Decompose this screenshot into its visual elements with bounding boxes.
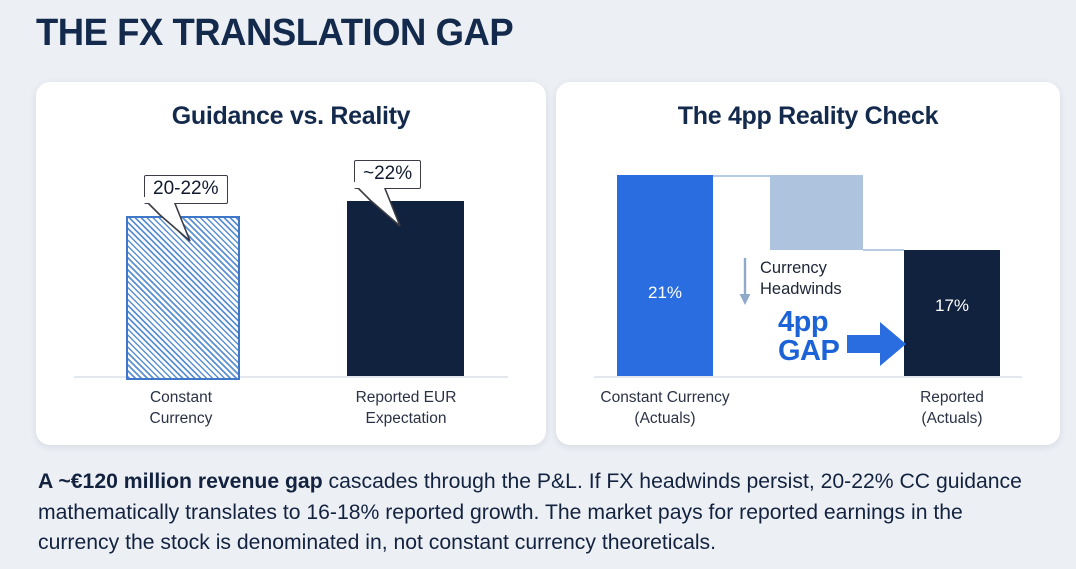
- right-category-label-constant-currency-line1: Constant Currency: [584, 388, 746, 409]
- gap-annotation-line1: 4pp: [778, 308, 839, 337]
- left-chart-plot: 20-22% ~22% Constant Currency R: [36, 82, 546, 445]
- chart-card-guidance-vs-reality: Guidance vs. Reality 20-22% ~22%: [36, 82, 546, 445]
- callout-reported-eur: ~22%: [354, 160, 421, 189]
- right-category-label-reported-line2: (Actuals): [874, 409, 1030, 430]
- left-category-label-constant-currency-line2: Currency: [101, 409, 261, 430]
- left-category-label-reported-eur-line2: Expectation: [321, 409, 491, 430]
- infographic-page: THE FX TRANSLATION GAP Guidance vs. Real…: [0, 0, 1076, 569]
- right-category-label-constant-currency: Constant Currency (Actuals): [584, 388, 746, 430]
- headwinds-note-line1: Currency: [760, 258, 842, 279]
- gap-annotation-line2: GAP: [778, 337, 839, 366]
- callout-reported-eur-text: ~22%: [363, 163, 412, 184]
- left-category-label-reported-eur: Reported EUR Expectation: [321, 388, 491, 430]
- right-chart-baseline: [594, 376, 1022, 378]
- bar-reported-eur-expectation: [347, 201, 464, 376]
- waterfall-connector-bottom: [863, 249, 904, 251]
- left-category-label-constant-currency: Constant Currency: [101, 388, 261, 430]
- bar-value-reported: 17%: [904, 296, 1000, 316]
- headwinds-note: Currency Headwinds: [760, 258, 842, 300]
- waterfall-connector-top: [713, 175, 770, 177]
- bar-constant-currency-guidance: [126, 216, 240, 380]
- right-category-label-constant-currency-line2: (Actuals): [584, 409, 746, 430]
- down-arrow-icon: [738, 258, 752, 306]
- right-category-label-reported-line1: Reported: [874, 388, 1030, 409]
- bar-currency-headwinds: [770, 175, 863, 250]
- right-category-label-reported: Reported (Actuals): [874, 388, 1030, 430]
- right-arrow-icon: [847, 320, 907, 368]
- left-category-label-reported-eur-line1: Reported EUR: [321, 388, 491, 409]
- chart-card-reality-check: The 4pp Reality Check 21% 17% Currency: [556, 82, 1060, 445]
- bar-value-constant-currency: 21%: [617, 283, 713, 303]
- gap-annotation: 4pp GAP: [778, 308, 839, 366]
- page-title: THE FX TRANSLATION GAP: [36, 12, 513, 55]
- caption: A ~€120 million revenue gap cascades thr…: [38, 466, 1039, 558]
- right-chart-waterfall-plot: 21% 17% Currency Headwinds 4pp GAP: [556, 82, 1060, 445]
- headwinds-note-line2: Headwinds: [760, 279, 842, 300]
- left-category-label-constant-currency-line1: Constant: [101, 388, 261, 409]
- callout-guidance-range: 20-22%: [144, 175, 228, 204]
- bar-reported-actual: 17%: [904, 250, 1000, 376]
- bar-constant-currency-actual: 21%: [617, 175, 713, 376]
- callout-guidance-range-text: 20-22%: [153, 178, 219, 199]
- caption-bold: A ~€120 million revenue gap: [38, 469, 323, 493]
